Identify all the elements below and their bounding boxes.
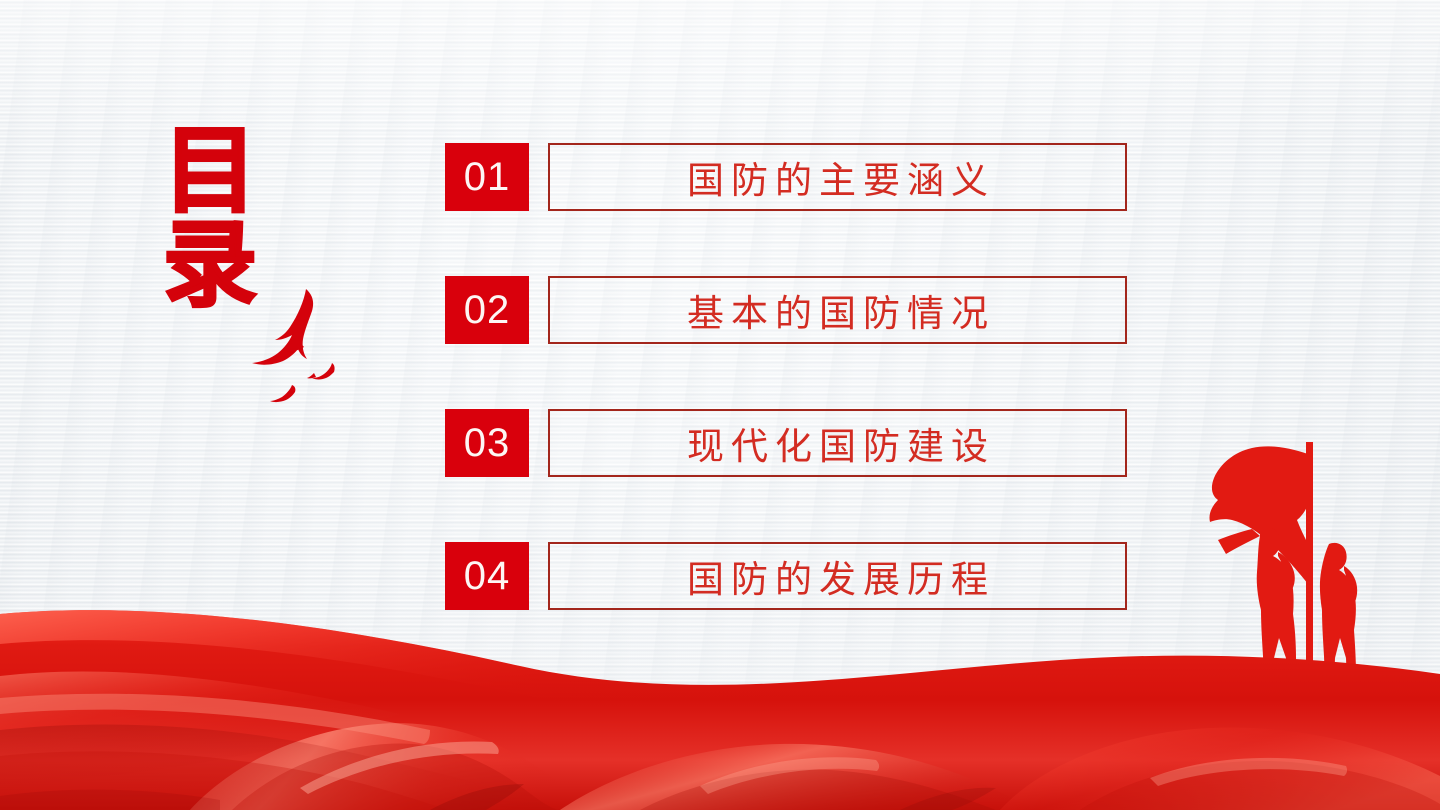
- toc-number-03: 03: [464, 421, 511, 466]
- toc-number-badge-02: 02: [445, 276, 529, 344]
- toc-label-box-03[interactable]: 现代化国防建设: [548, 409, 1127, 477]
- toc-list: 01 国防的主要涵义 02 基本的国防情况 03 现代化国防建设 04: [445, 143, 1127, 610]
- toc-item-02[interactable]: 02 基本的国防情况: [445, 276, 1127, 344]
- toc-number-02: 02: [464, 288, 511, 333]
- toc-slide: 目 录 01 国防的主要涵义 02: [0, 0, 1440, 810]
- toc-number-badge-03: 03: [445, 409, 529, 477]
- toc-label-02: 基本的国防情况: [680, 283, 995, 337]
- toc-label-box-02[interactable]: 基本的国防情况: [548, 276, 1127, 344]
- page-title-char-1: 目: [163, 129, 293, 215]
- toc-label-box-01[interactable]: 国防的主要涵义: [548, 143, 1127, 211]
- toc-label-01: 国防的主要涵义: [680, 150, 995, 204]
- page-title-char-2: 录: [163, 223, 293, 309]
- red-silk-ribbon: [0, 580, 1440, 810]
- toc-item-01[interactable]: 01 国防的主要涵义: [445, 143, 1127, 211]
- toc-label-03: 现代化国防建设: [680, 416, 995, 470]
- toc-item-03[interactable]: 03 现代化国防建设: [445, 409, 1127, 477]
- toc-number-01: 01: [464, 155, 511, 200]
- toc-number-badge-01: 01: [445, 143, 529, 211]
- page-title: 目 录: [163, 129, 293, 310]
